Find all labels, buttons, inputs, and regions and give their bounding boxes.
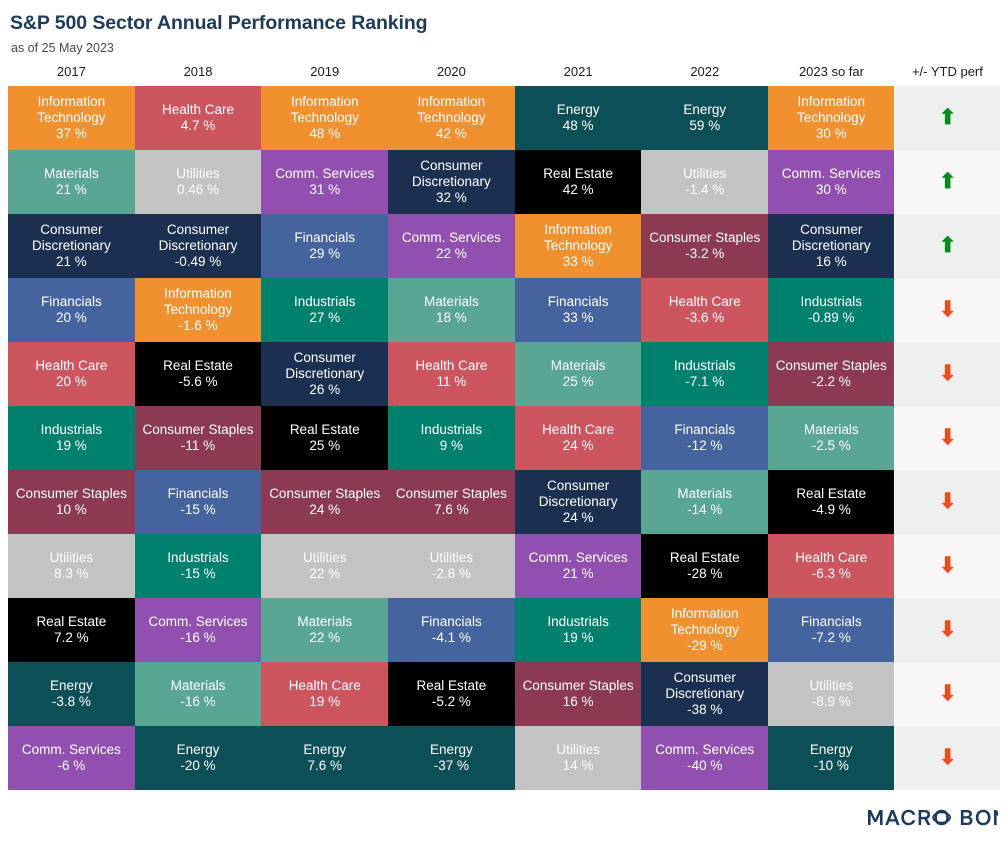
column-header-ytd: +/- YTD perf [895, 64, 1000, 86]
sector-cell[interactable]: Financials-15 % [135, 470, 262, 534]
sector-cell[interactable]: Consumer Discretionary16 % [768, 214, 895, 278]
sector-cell[interactable]: Materials-16 % [135, 662, 262, 726]
sector-name: Consumer Staples [264, 486, 385, 502]
table-row: Health Care20 %Real Estate-5.6 %Consumer… [8, 342, 1000, 406]
sector-cell[interactable]: Comm. Services-40 % [641, 726, 768, 790]
sector-cell[interactable]: Utilities-1.4 % [641, 150, 768, 214]
sector-name: Utilities [644, 166, 765, 182]
sector-name: Materials [11, 166, 132, 182]
sector-return: 7.6 % [391, 502, 512, 518]
sector-name: Health Care [264, 678, 385, 694]
sector-return: 8.3 % [11, 566, 132, 582]
sector-cell[interactable]: Materials21 % [8, 150, 135, 214]
sector-return: -10 % [771, 758, 891, 774]
table-row: Energy-3.8 %Materials-16 %Health Care19 … [8, 662, 1000, 726]
sector-cell[interactable]: Energy-37 % [388, 726, 515, 790]
sector-name: Consumer Staples [518, 678, 639, 694]
sector-cell[interactable]: Energy-20 % [135, 726, 262, 790]
sector-name: Information Technology [771, 94, 891, 126]
sector-cell[interactable]: Industrials9 % [388, 406, 515, 470]
sector-return: 10 % [11, 502, 132, 518]
sector-name: Materials [391, 294, 512, 310]
sector-cell[interactable]: Information Technology48 % [261, 86, 388, 150]
sector-cell[interactable]: Financials29 % [261, 214, 388, 278]
sector-return: 4.7 % [138, 118, 259, 134]
sector-name: Comm. Services [138, 614, 259, 630]
sector-cell[interactable]: Industrials-0.89 % [768, 278, 895, 342]
sector-cell[interactable]: Consumer Staples24 % [261, 470, 388, 534]
sector-name: Comm. Services [771, 166, 891, 182]
table-row: Utilities8.3 %Industrials-15 %Utilities2… [8, 534, 1000, 598]
sector-cell[interactable]: Health Care4.7 % [135, 86, 262, 150]
column-header-2019: 2019 [261, 64, 388, 86]
sector-name: Consumer Discretionary [391, 158, 512, 190]
ytd-trend-cell: ⬇ [895, 534, 1000, 598]
sector-cell[interactable]: Information Technology-1.6 % [135, 278, 262, 342]
sector-cell[interactable]: Real Estate7.2 % [8, 598, 135, 662]
sector-return: -1.6 % [138, 318, 259, 334]
sector-name: Consumer Discretionary [138, 222, 259, 254]
sector-return: 7.2 % [11, 630, 132, 646]
sector-return: 20 % [11, 374, 132, 390]
sector-name: Materials [264, 614, 385, 630]
ytd-trend-cell: ⬇ [895, 406, 1000, 470]
sector-cell[interactable]: Energy-3.8 % [8, 662, 135, 726]
sector-cell[interactable]: Health Care11 % [388, 342, 515, 406]
arrow-down-icon: ⬇ [939, 683, 957, 704]
sector-return: 18 % [391, 310, 512, 326]
sector-return: -38 % [644, 702, 765, 718]
macrobond-logo [866, 804, 998, 830]
sector-name: Utilities [391, 550, 512, 566]
sector-return: 11 % [391, 374, 512, 390]
sector-name: Energy [518, 102, 639, 118]
sector-return: 21 % [11, 182, 132, 198]
sector-return: 14 % [518, 758, 639, 774]
sector-return: 19 % [11, 438, 132, 454]
sector-cell[interactable]: Materials-2.5 % [768, 406, 895, 470]
sector-name: Industrials [11, 422, 132, 438]
sector-cell[interactable]: Financials-7.2 % [768, 598, 895, 662]
column-header-2017: 2017 [8, 64, 135, 86]
sector-name: Consumer Discretionary [644, 670, 765, 702]
sector-name: Consumer Staples [771, 358, 891, 374]
table-row: Comm. Services-6 %Energy-20 %Energy7.6 %… [8, 726, 1000, 790]
sector-name: Energy [264, 742, 385, 758]
sector-return: 16 % [771, 254, 891, 270]
ytd-trend-cell: ⬇ [895, 470, 1000, 534]
sector-return: -0.49 % [138, 254, 259, 270]
sector-name: Financials [771, 614, 891, 630]
sector-name: Industrials [644, 358, 765, 374]
sector-cell[interactable]: Materials22 % [261, 598, 388, 662]
sector-cell[interactable]: Information Technology42 % [388, 86, 515, 150]
sector-cell[interactable]: Consumer Staples7.6 % [388, 470, 515, 534]
sector-cell[interactable]: Comm. Services21 % [515, 534, 642, 598]
column-header-2023-so-far: 2023 so far [768, 64, 895, 86]
sector-return: 25 % [264, 438, 385, 454]
sector-return: -6 % [11, 758, 132, 774]
sector-cell[interactable]: Energy59 % [641, 86, 768, 150]
sector-return: -3.8 % [11, 694, 132, 710]
sector-name: Consumer Staples [11, 486, 132, 502]
sector-return: -8.9 % [771, 694, 891, 710]
ytd-trend-cell: ⬇ [895, 278, 1000, 342]
sector-cell[interactable]: Information Technology30 % [768, 86, 895, 150]
sector-cell[interactable]: Consumer Discretionary-38 % [641, 662, 768, 726]
sector-cell[interactable]: Financials33 % [515, 278, 642, 342]
sector-cell[interactable]: Consumer Staples16 % [515, 662, 642, 726]
sector-name: Information Technology [518, 222, 639, 254]
sector-return: -28 % [644, 566, 765, 582]
sector-cell[interactable]: Utilities8.3 % [8, 534, 135, 598]
sector-name: Consumer Staples [644, 230, 765, 246]
matrix-header-row: 2017201820192020202120222023 so far+/- Y… [8, 64, 1000, 86]
sector-return: 30 % [771, 182, 891, 198]
arrow-down-icon: ⬇ [939, 299, 957, 320]
sector-name: Utilities [771, 678, 891, 694]
sector-cell[interactable]: Industrials27 % [261, 278, 388, 342]
table-row: Industrials19 %Consumer Staples-11 %Real… [8, 406, 1000, 470]
sector-cell[interactable]: Comm. Services30 % [768, 150, 895, 214]
arrow-up-icon: ⬆ [939, 171, 957, 192]
sector-cell[interactable]: Industrials19 % [8, 406, 135, 470]
sector-name: Industrials [518, 614, 639, 630]
sector-name: Real Estate [138, 358, 259, 374]
sector-return: -37 % [391, 758, 512, 774]
table-row: Real Estate7.2 %Comm. Services-16 %Mater… [8, 598, 1000, 662]
table-row: Materials21 %Utilities0.46 %Comm. Servic… [8, 150, 1000, 214]
sector-return: -7.1 % [644, 374, 765, 390]
sector-return: -15 % [138, 502, 259, 518]
sector-cell[interactable]: Utilities22 % [261, 534, 388, 598]
sector-return: 0.46 % [138, 182, 259, 198]
sector-cell[interactable]: Consumer Staples-3.2 % [641, 214, 768, 278]
sector-name: Financials [391, 614, 512, 630]
sector-cell[interactable]: Consumer Discretionary-0.49 % [135, 214, 262, 278]
sector-cell[interactable]: Financials-4.1 % [388, 598, 515, 662]
sector-name: Health Care [391, 358, 512, 374]
sector-return: 24 % [264, 502, 385, 518]
column-header-2021: 2021 [515, 64, 642, 86]
sector-return: 20 % [11, 310, 132, 326]
sector-name: Real Estate [518, 166, 639, 182]
sector-ranking-page: S&P 500 Sector Annual Performance Rankin… [0, 0, 1008, 842]
sector-name: Utilities [518, 742, 639, 758]
sector-name: Utilities [138, 166, 259, 182]
sector-name: Materials [644, 486, 765, 502]
sector-return: 31 % [264, 182, 385, 198]
sector-name: Comm. Services [391, 230, 512, 246]
sector-cell[interactable]: Health Care-6.3 % [768, 534, 895, 598]
sector-cell[interactable]: Health Care-3.6 % [641, 278, 768, 342]
ytd-trend-cell: ⬇ [895, 662, 1000, 726]
sector-return: -15 % [138, 566, 259, 582]
sector-name: Information Technology [391, 94, 512, 126]
sector-return: -6.3 % [771, 566, 891, 582]
sector-cell[interactable]: Consumer Staples-11 % [135, 406, 262, 470]
sector-name: Health Care [771, 550, 891, 566]
sector-cell[interactable]: Comm. Services-6 % [8, 726, 135, 790]
sector-cell[interactable]: Consumer Discretionary21 % [8, 214, 135, 278]
sector-cell[interactable]: Health Care24 % [515, 406, 642, 470]
sector-name: Information Technology [138, 286, 259, 318]
sector-name: Real Estate [11, 614, 132, 630]
column-header-2022: 2022 [641, 64, 768, 86]
matrix-body: Information Technology37 %Health Care4.7… [8, 86, 1000, 790]
sector-name: Industrials [771, 294, 891, 310]
sector-name: Utilities [264, 550, 385, 566]
sector-name: Materials [771, 422, 891, 438]
arrow-down-icon: ⬇ [939, 747, 957, 768]
sector-cell[interactable]: Consumer Discretionary32 % [388, 150, 515, 214]
sector-name: Financials [11, 294, 132, 310]
sector-name: Comm. Services [264, 166, 385, 182]
sector-return: 59 % [644, 118, 765, 134]
sector-name: Financials [138, 486, 259, 502]
sector-return: 21 % [518, 566, 639, 582]
sector-return: 42 % [391, 126, 512, 142]
ytd-trend-cell: ⬆ [895, 150, 1000, 214]
sector-cell[interactable]: Real Estate-5.2 % [388, 662, 515, 726]
sector-cell[interactable]: Real Estate-28 % [641, 534, 768, 598]
sector-return: 26 % [264, 382, 385, 398]
sector-cell[interactable]: Industrials19 % [515, 598, 642, 662]
sector-return: 24 % [518, 510, 639, 526]
sector-cell[interactable]: Energy-10 % [768, 726, 895, 790]
ranking-matrix-wrapper: 2017201820192020202120222023 so far+/- Y… [8, 64, 1000, 790]
sector-return: -11 % [138, 438, 259, 454]
sector-name: Materials [518, 358, 639, 374]
sector-cell[interactable]: Materials25 % [515, 342, 642, 406]
ytd-trend-cell: ⬇ [895, 598, 1000, 662]
sector-return: 30 % [771, 126, 891, 142]
sector-name: Industrials [391, 422, 512, 438]
sector-cell[interactable]: Consumer Discretionary26 % [261, 342, 388, 406]
sector-return: -1.4 % [644, 182, 765, 198]
sector-cell[interactable]: Industrials-15 % [135, 534, 262, 598]
sector-name: Real Estate [264, 422, 385, 438]
sector-name: Health Care [11, 358, 132, 374]
arrow-up-icon: ⬆ [939, 235, 957, 256]
sector-return: -7.2 % [771, 630, 891, 646]
sector-return: 21 % [11, 254, 132, 270]
arrow-up-icon: ⬆ [939, 107, 957, 128]
sector-return: -5.2 % [391, 694, 512, 710]
arrow-down-icon: ⬇ [939, 619, 957, 640]
page-title: S&P 500 Sector Annual Performance Rankin… [10, 12, 427, 35]
sector-cell[interactable]: Utilities-2.8 % [388, 534, 515, 598]
sector-return: 22 % [264, 566, 385, 582]
sector-cell[interactable]: Health Care19 % [261, 662, 388, 726]
sector-cell[interactable]: Comm. Services-16 % [135, 598, 262, 662]
sector-cell[interactable]: Information Technology37 % [8, 86, 135, 150]
sector-cell[interactable]: Industrials-7.1 % [641, 342, 768, 406]
sector-name: Information Technology [644, 606, 765, 638]
sector-name: Consumer Staples [138, 422, 259, 438]
sector-cell[interactable]: Information Technology33 % [515, 214, 642, 278]
sector-return: -4.9 % [771, 502, 891, 518]
ytd-trend-cell: ⬇ [895, 726, 1000, 790]
sector-cell[interactable]: Utilities-8.9 % [768, 662, 895, 726]
sector-name: Comm. Services [644, 742, 765, 758]
sector-cell[interactable]: Utilities14 % [515, 726, 642, 790]
sector-name: Financials [644, 422, 765, 438]
sector-return: 25 % [518, 374, 639, 390]
sector-name: Energy [391, 742, 512, 758]
sector-return: 19 % [264, 694, 385, 710]
sector-name: Financials [264, 230, 385, 246]
sector-name: Energy [138, 742, 259, 758]
sector-name: Health Care [518, 422, 639, 438]
sector-name: Energy [771, 742, 891, 758]
page-subtitle: as of 25 May 2023 [11, 41, 114, 55]
sector-return: 29 % [264, 246, 385, 262]
sector-return: 33 % [518, 310, 639, 326]
column-header-2018: 2018 [135, 64, 262, 86]
ranking-matrix: 2017201820192020202120222023 so far+/- Y… [8, 64, 1000, 790]
ytd-trend-cell: ⬇ [895, 342, 1000, 406]
sector-cell[interactable]: Comm. Services22 % [388, 214, 515, 278]
sector-return: 22 % [391, 246, 512, 262]
table-row: Financials20 %Information Technology-1.6… [8, 278, 1000, 342]
sector-return: 37 % [11, 126, 132, 142]
sector-cell[interactable]: Real Estate-5.6 % [135, 342, 262, 406]
sector-name: Real Estate [391, 678, 512, 694]
arrow-down-icon: ⬇ [939, 491, 957, 512]
sector-return: 42 % [518, 182, 639, 198]
sector-return: -40 % [644, 758, 765, 774]
sector-return: -12 % [644, 438, 765, 454]
sector-cell[interactable]: Health Care20 % [8, 342, 135, 406]
sector-name: Consumer Discretionary [11, 222, 132, 254]
sector-name: Real Estate [644, 550, 765, 566]
sector-cell[interactable]: Materials18 % [388, 278, 515, 342]
table-row: Consumer Staples10 %Financials-15 %Consu… [8, 470, 1000, 534]
sector-return: -2.2 % [771, 374, 891, 390]
sector-name: Comm. Services [11, 742, 132, 758]
sector-return: 7.6 % [264, 758, 385, 774]
sector-return: 32 % [391, 190, 512, 206]
sector-return: -16 % [138, 630, 259, 646]
sector-cell[interactable]: Real Estate25 % [261, 406, 388, 470]
sector-cell[interactable]: Consumer Discretionary24 % [515, 470, 642, 534]
sector-return: -3.6 % [644, 310, 765, 326]
column-header-2020: 2020 [388, 64, 515, 86]
sector-return: -16 % [138, 694, 259, 710]
sector-return: 9 % [391, 438, 512, 454]
sector-name: Health Care [644, 294, 765, 310]
sector-return: 19 % [518, 630, 639, 646]
sector-return: -29 % [644, 638, 765, 654]
sector-name: Information Technology [264, 94, 385, 126]
sector-return: 27 % [264, 310, 385, 326]
sector-return: 24 % [518, 438, 639, 454]
sector-name: Comm. Services [518, 550, 639, 566]
sector-name: Consumer Staples [391, 486, 512, 502]
sector-name: Consumer Discretionary [264, 350, 385, 382]
sector-name: Energy [644, 102, 765, 118]
sector-cell[interactable]: Financials-12 % [641, 406, 768, 470]
sector-name: Utilities [11, 550, 132, 566]
sector-return: -4.1 % [391, 630, 512, 646]
sector-return: 48 % [264, 126, 385, 142]
arrow-down-icon: ⬇ [939, 555, 957, 576]
sector-return: -2.8 % [391, 566, 512, 582]
arrow-down-icon: ⬇ [939, 427, 957, 448]
sector-name: Industrials [138, 550, 259, 566]
sector-name: Consumer Discretionary [518, 478, 639, 510]
sector-return: -2.5 % [771, 438, 891, 454]
sector-cell[interactable]: Materials-14 % [641, 470, 768, 534]
sector-name: Industrials [264, 294, 385, 310]
sector-cell[interactable]: Consumer Staples10 % [8, 470, 135, 534]
sector-cell[interactable]: Energy48 % [515, 86, 642, 150]
sector-name: Materials [138, 678, 259, 694]
arrow-down-icon: ⬇ [939, 363, 957, 384]
sector-name: Information Technology [11, 94, 132, 126]
sector-return: -20 % [138, 758, 259, 774]
sector-return: 16 % [518, 694, 639, 710]
sector-cell[interactable]: Comm. Services31 % [261, 150, 388, 214]
ytd-trend-cell: ⬆ [895, 86, 1000, 150]
sector-cell[interactable]: Financials20 % [8, 278, 135, 342]
sector-cell[interactable]: Real Estate42 % [515, 150, 642, 214]
sector-return: 22 % [264, 630, 385, 646]
sector-cell[interactable]: Utilities0.46 % [135, 150, 262, 214]
sector-name: Financials [518, 294, 639, 310]
sector-cell[interactable]: Consumer Staples-2.2 % [768, 342, 895, 406]
sector-name: Consumer Discretionary [771, 222, 891, 254]
sector-return: -14 % [644, 502, 765, 518]
sector-name: Energy [11, 678, 132, 694]
sector-return: -3.2 % [644, 246, 765, 262]
table-row: Consumer Discretionary21 %Consumer Discr… [8, 214, 1000, 278]
sector-cell[interactable]: Real Estate-4.9 % [768, 470, 895, 534]
sector-name: Real Estate [771, 486, 891, 502]
sector-return: -0.89 % [771, 310, 891, 326]
sector-return: -5.6 % [138, 374, 259, 390]
ytd-trend-cell: ⬆ [895, 214, 1000, 278]
table-row: Information Technology37 %Health Care4.7… [8, 86, 1000, 150]
sector-return: 48 % [518, 118, 639, 134]
sector-cell[interactable]: Energy7.6 % [261, 726, 388, 790]
sector-return: 33 % [518, 254, 639, 270]
sector-name: Health Care [138, 102, 259, 118]
sector-cell[interactable]: Information Technology-29 % [641, 598, 768, 662]
